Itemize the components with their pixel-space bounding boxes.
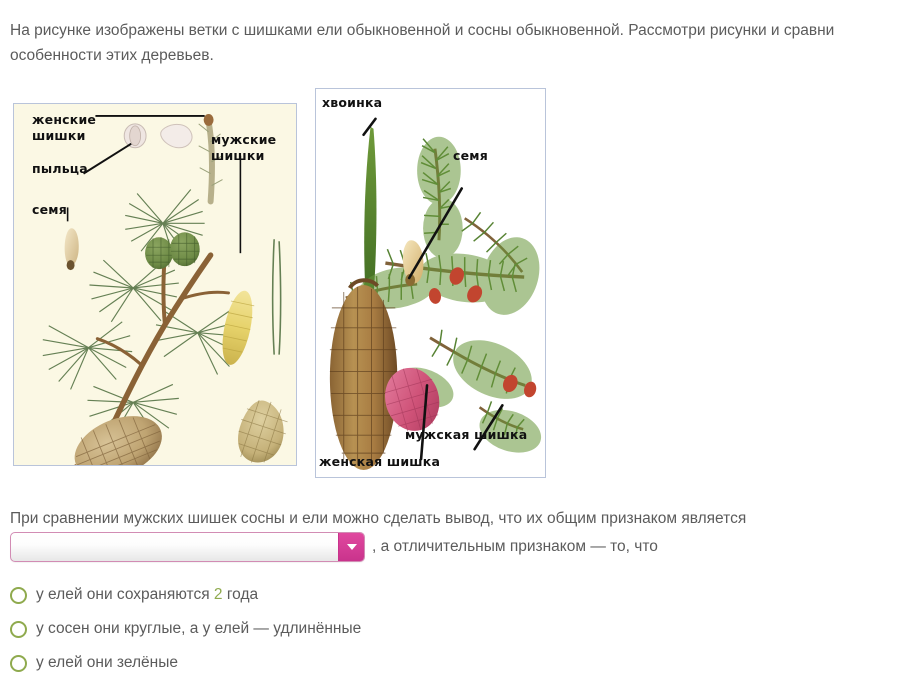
exercise-page: На рисунке изображены ветки с шишками ел…: [0, 0, 910, 690]
radio-button-option-3[interactable]: [10, 655, 27, 672]
answer-options: у елей они сохраняются 2 года у сосен он…: [10, 578, 890, 680]
spruce-illustration: [316, 89, 545, 477]
label-male-cones: мужские шишки: [211, 132, 276, 163]
option-2-label: у сосен они круглые, а у елей — удлинённ…: [36, 620, 361, 638]
question-tail: , а отличительным признаком — то, что: [372, 538, 658, 556]
dropdown-selected-value[interactable]: [11, 533, 338, 561]
list-item[interactable]: у елей они сохраняются 2 года: [10, 578, 890, 612]
option-2-text-pre: у сосен они круглые, а у елей — удлинённ…: [36, 620, 361, 637]
list-item[interactable]: у сосен они круглые, а у елей — удлинённ…: [10, 612, 890, 646]
question-lead: При сравнении мужских шишек сосны и ели …: [10, 508, 900, 530]
list-item[interactable]: у елей они зелёные: [10, 646, 890, 680]
answer-select-row: , а отличительным признаком — то, что: [10, 532, 658, 562]
option-1-text-pre: у елей они сохраняются: [36, 586, 214, 603]
label-seed: семя: [32, 202, 67, 218]
dropdown-toggle-button[interactable]: [338, 533, 364, 561]
option-1-highlight: 2: [214, 586, 223, 603]
answer-dropdown[interactable]: [10, 532, 365, 562]
label-needle: хвоинка: [322, 95, 382, 110]
option-3-text-pre: у елей они зелёные: [36, 654, 178, 671]
pine-figure: женские шишки пыльца семя мужские шишки: [13, 103, 297, 466]
option-3-label: у елей они зелёные: [36, 654, 178, 672]
intro-text: На рисунке изображены ветки с шишками ел…: [10, 18, 900, 68]
label-pollen: пыльца: [32, 161, 88, 177]
label-female-cone: женская шишка: [319, 454, 440, 469]
label-female-cones: женские шишки: [32, 112, 96, 143]
option-1-label: у елей они сохраняются 2 года: [36, 586, 258, 604]
label-seed: семя: [453, 148, 488, 163]
label-male-cone: мужская шишка: [405, 427, 527, 442]
radio-button-option-2[interactable]: [10, 621, 27, 638]
chevron-down-icon: [347, 544, 357, 550]
radio-button-option-1[interactable]: [10, 587, 27, 604]
spruce-figure: хвоинка семя мужская шишка женская шишка: [315, 88, 546, 478]
option-1-text-post: года: [223, 586, 259, 603]
